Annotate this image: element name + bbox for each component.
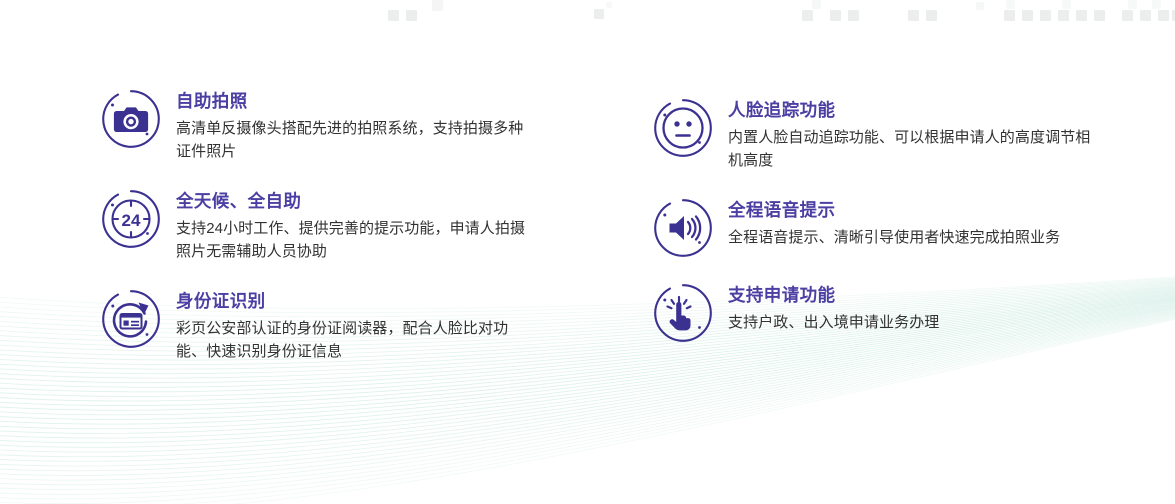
feature-title: 身份证识别	[176, 290, 536, 312]
feature-description: 支持24小时工作、提供完善的提示功能，申请人拍摄照片无需辅助人员协助	[176, 217, 536, 263]
feature-text: 全程语音提示 全程语音提示、清晰引导使用者快速完成拍照业务	[728, 197, 1060, 249]
feature-text: 人脸追踪功能 内置人脸自动追踪功能、可以根据申请人的高度调节相机高度	[728, 97, 1103, 172]
feature-description: 彩页公安部认证的身份证阅读器，配合人脸比对功能、快速识别身份证信息	[176, 317, 536, 363]
feature-text: 自助拍照 高清单反摄像头搭配先进的拍照系统，支持拍摄多种证件照片	[176, 88, 536, 163]
feature-description: 高清单反摄像头搭配先进的拍照系统，支持拍摄多种证件照片	[176, 117, 536, 163]
feature-item-id-recognition: 身份证识别 彩页公安部认证的身份证阅读器，配合人脸比对功能、快速识别身份证信息	[100, 288, 536, 363]
clock-24h-icon: 24	[100, 188, 162, 250]
feature-description: 全程语音提示、清晰引导使用者快速完成拍照业务	[728, 226, 1060, 249]
feature-item-face-tracking: 人脸追踪功能 内置人脸自动追踪功能、可以根据申请人的高度调节相机高度	[652, 97, 1103, 172]
face-tracking-icon	[652, 97, 714, 159]
id-card-refresh-icon	[100, 288, 162, 350]
feature-item-voice-prompt: 全程语音提示 全程语音提示、清晰引导使用者快速完成拍照业务	[652, 197, 1060, 259]
feature-title: 自助拍照	[176, 90, 536, 112]
speaker-voice-icon	[652, 197, 714, 259]
camera-icon	[100, 88, 162, 150]
feature-text: 身份证识别 彩页公安部认证的身份证阅读器，配合人脸比对功能、快速识别身份证信息	[176, 288, 536, 363]
feature-title: 人脸追踪功能	[728, 99, 1103, 121]
tap-hand-icon	[652, 282, 714, 344]
feature-text: 全天候、全自助 支持24小时工作、提供完善的提示功能，申请人拍摄照片无需辅助人员…	[176, 188, 536, 263]
feature-text: 支持申请功能 支持户政、出入境申请业务办理	[728, 282, 939, 334]
feature-item-self-photo: 自助拍照 高清单反摄像头搭配先进的拍照系统，支持拍摄多种证件照片	[100, 88, 536, 163]
feature-description: 内置人脸自动追踪功能、可以根据申请人的高度调节相机高度	[728, 126, 1103, 172]
feature-item-application-support: 支持申请功能 支持户政、出入境申请业务办理	[652, 282, 939, 344]
feature-description: 支持户政、出入境申请业务办理	[728, 311, 939, 334]
feature-grid: 自助拍照 高清单反摄像头搭配先进的拍照系统，支持拍摄多种证件照片 24 全天候、…	[0, 0, 1175, 504]
feature-item-24h-self-service: 24 全天候、全自助 支持24小时工作、提供完善的提示功能，申请人拍摄照片无需辅…	[100, 188, 536, 263]
feature-title: 支持申请功能	[728, 284, 939, 306]
feature-title: 全天候、全自助	[176, 190, 536, 212]
svg-text:24: 24	[122, 211, 141, 230]
feature-title: 全程语音提示	[728, 199, 1060, 221]
